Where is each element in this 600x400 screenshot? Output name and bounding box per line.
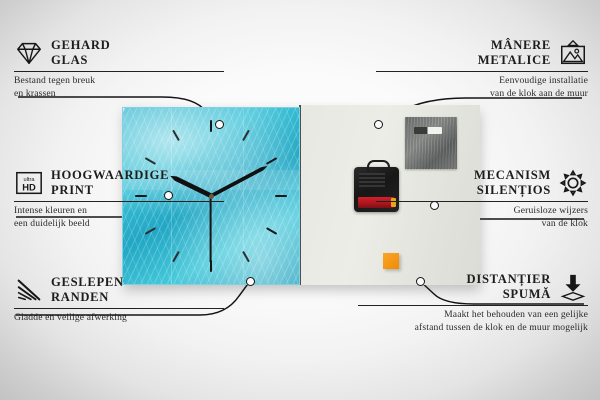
feature-edges: GESLEPEN RANDEN Gladde en veilige afwerk… [14, 275, 224, 325]
callout-dot-hangers[interactable] [374, 120, 383, 129]
feature-hangers-title-1: MÂNERE [478, 38, 551, 53]
feature-mechanism-title-2: SILENȚIOS [474, 183, 551, 198]
feature-glass: GEHARD GLAS Bestand tegen breuk en krass… [14, 38, 224, 100]
feature-print-desc-1: Intense kleuren en [14, 205, 224, 218]
feature-hangers-title-2: METALICE [478, 53, 551, 68]
feature-edges-title-1: GESLEPEN [51, 275, 124, 290]
feature-mechanism-title-1: MECANISM [474, 168, 551, 183]
hanger-slot [414, 127, 442, 134]
divider [376, 71, 588, 72]
feature-spacer: DISTANȚIER SPUMĂ Maakt het behouden van … [358, 272, 588, 334]
ultra-hd-icon: ultra HD [14, 168, 44, 198]
gear-icon [558, 168, 588, 198]
feature-print-title-1: HOOGWAARDIGE [51, 168, 169, 183]
feature-glass-title-1: GEHARD [51, 38, 110, 53]
callout-dot-edges[interactable] [246, 277, 255, 286]
feature-print-desc-2: een duidelijk beeld [14, 218, 224, 231]
feature-edges-desc-1: Gladde en veilige afwerking [14, 312, 224, 325]
feature-glass-desc-1: Bestand tegen breuk [14, 75, 224, 88]
picture-frame-hanger-icon [558, 38, 588, 68]
feature-spacer-title-2: SPUMĂ [467, 287, 551, 302]
spacer-down-arrow-icon [558, 272, 588, 302]
feature-print-title-2: PRINT [51, 183, 169, 198]
diamond-icon [14, 38, 44, 68]
feature-mechanism-desc-2: van de klok [376, 218, 588, 231]
infographic-canvas: GEHARD GLAS Bestand tegen breuk en krass… [0, 0, 600, 400]
feature-edges-title-2: RANDEN [51, 290, 124, 305]
feature-spacer-desc-1: Maakt het behouden van een gelijke [358, 309, 588, 322]
feature-glass-title-2: GLAS [51, 53, 110, 68]
feature-mechanism-desc-1: Geruisloze wijzers [376, 205, 588, 218]
foam-spacer [383, 253, 399, 269]
feature-hangers: MÂNERE METALICE Eenvoudige installatie v… [376, 38, 588, 100]
feature-hangers-desc-1: Eenvoudige installatie [376, 75, 588, 88]
metal-hanger-plate [405, 117, 457, 169]
bevelled-edge-icon [14, 275, 44, 305]
callout-dot-glass[interactable] [215, 120, 224, 129]
feature-print: ultra HD HOOGWAARDIGE PRINT Intense kleu… [14, 168, 224, 230]
feature-hangers-desc-2: van de klok aan de muur [376, 88, 588, 101]
divider [14, 308, 224, 309]
divider [14, 201, 224, 202]
svg-text:HD: HD [22, 183, 36, 193]
feature-glass-desc-2: en krassen [14, 88, 224, 101]
feature-spacer-desc-2: afstand tussen de klok en de muur mogeli… [358, 322, 588, 335]
feature-spacer-title-1: DISTANȚIER [467, 272, 551, 287]
divider [376, 201, 588, 202]
divider [358, 305, 588, 306]
divider [14, 71, 224, 72]
feature-mechanism: MECANISM SILENȚIOS Geruisloze wijzers va… [376, 168, 588, 230]
